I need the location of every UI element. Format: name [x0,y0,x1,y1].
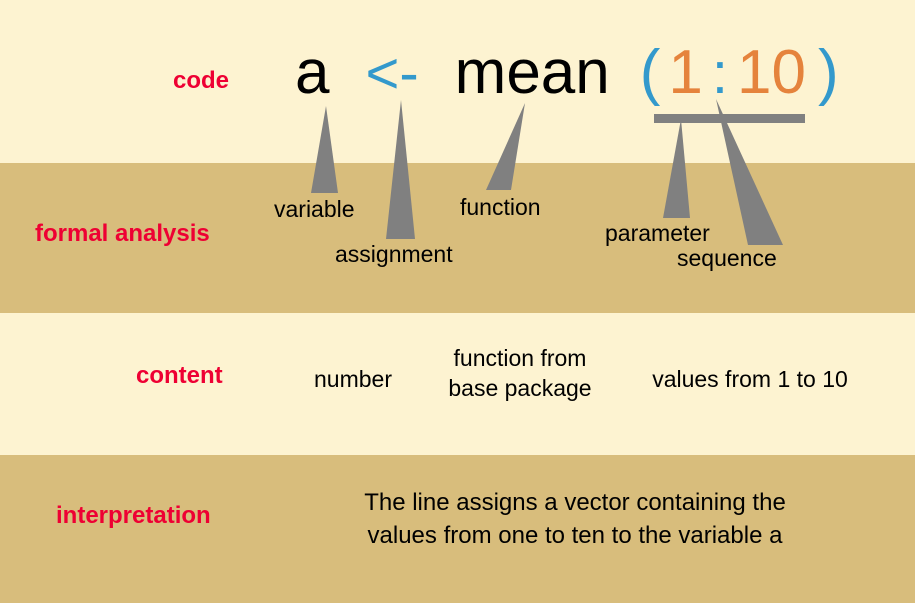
parameter-underline-bar [654,114,805,123]
content-cell-number: number [307,364,399,394]
row-label-interpretation: interpretation [56,502,211,530]
code-token-paren-open: ( [640,42,661,104]
code-token-variable: a [295,42,329,104]
annotation-assignment: assignment [335,241,453,268]
row-label-formal-analysis: formal analysis [35,220,210,248]
annotation-variable: variable [274,196,355,223]
code-token-assignment: <- [365,45,418,103]
content-cell-function: function from base package [432,343,608,404]
interpretation-sentence: The line assigns a vector containing the… [330,486,820,552]
content-cell-function-line1: function from [432,343,608,373]
code-line: a <- mean ( 1 : 10 ) [295,42,839,120]
content-cell-values: values from 1 to 10 [636,364,864,394]
annotation-sequence: sequence [677,245,777,272]
code-anatomy-diagram: code formal analysis content interpretat… [0,0,915,603]
interpretation-line2: values from one to ten to the variable a [330,519,820,552]
row-label-content: content [136,362,223,390]
code-token-paren-close: ) [818,42,839,104]
code-token-sequence-operator: : [712,45,728,103]
content-cell-function-line2: base package [432,373,608,403]
row-label-code: code [173,67,229,95]
annotation-function: function [460,194,541,221]
code-token-function: mean [455,42,610,104]
code-token-sequence-end: 10 [737,42,806,104]
interpretation-line1: The line assigns a vector containing the [330,486,820,519]
annotation-parameter: parameter [605,220,710,247]
code-token-sequence-start: 1 [668,42,702,104]
